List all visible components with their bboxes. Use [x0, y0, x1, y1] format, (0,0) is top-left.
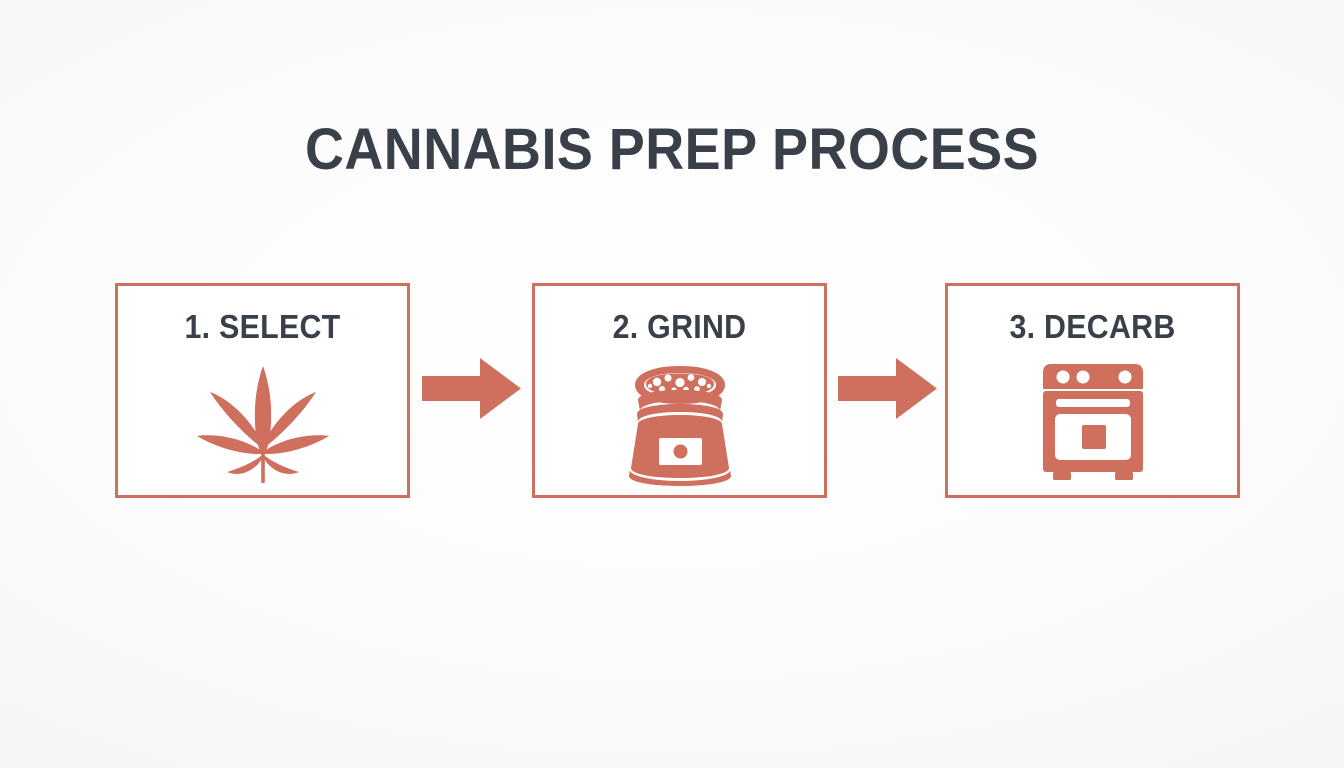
arrow-right-icon: [422, 358, 521, 419]
cannabis-leaf-icon: [118, 364, 407, 486]
process-diagram: CANNABIS PREP PROCESS 1. SELECT: [0, 0, 1344, 768]
arrow-right-icon: [838, 358, 937, 419]
step-card-decarb[interactable]: 3. DECARB: [945, 283, 1240, 498]
page-title: CANNABIS PREP PROCESS: [47, 117, 1297, 183]
step-card-label: 3. DECARB: [960, 308, 1226, 346]
step-card-label: 1. SELECT: [130, 308, 396, 346]
step-card-select[interactable]: 1. SELECT: [115, 283, 410, 498]
grinder-icon: [535, 364, 824, 486]
step-card-label: 2. GRIND: [547, 308, 813, 346]
oven-icon: [948, 364, 1237, 486]
step-card-grind[interactable]: 2. GRIND: [532, 283, 827, 498]
